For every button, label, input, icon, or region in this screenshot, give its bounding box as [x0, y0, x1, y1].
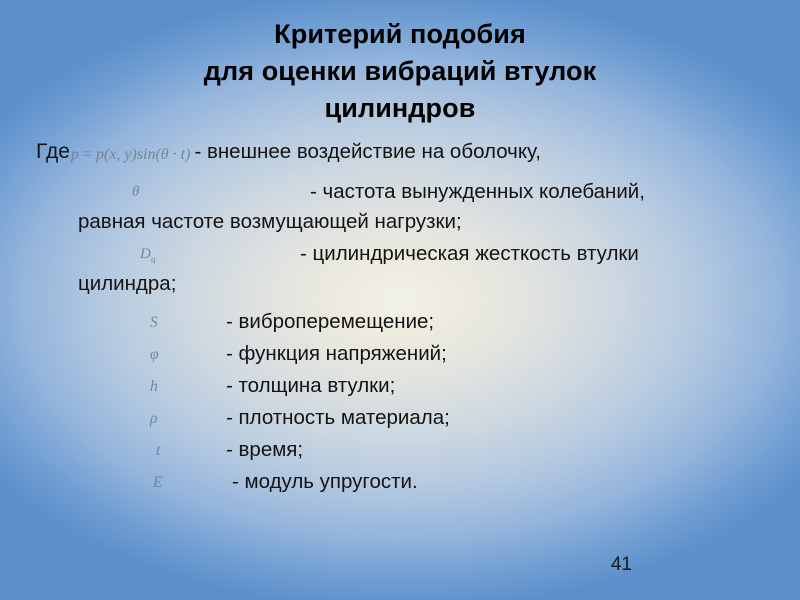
slide-title: Критерий подобия для оценки вибраций вту… — [50, 16, 750, 127]
symbol-S: S — [150, 314, 190, 332]
symbol-phi: φ — [150, 346, 190, 364]
symbol-E-description: - модуль упругости. — [232, 470, 418, 494]
symbol-phi-description: - функция напряжений; — [226, 342, 447, 366]
stiffness-continuation: цилиндра; — [78, 272, 176, 296]
where-line: Где p = p(x, y)sin(θ · t) - внешнее возд… — [36, 140, 776, 164]
stiffness-symbol: Dц — [140, 246, 156, 265]
title-line-3: цилиндров — [50, 90, 750, 127]
formula-equals: = — [79, 146, 96, 163]
frequency-continuation: равная частоте возмущающей нагрузки; — [78, 210, 462, 234]
symbol-definition-list: S - виброперемещение; φ - функция напряж… — [0, 310, 800, 502]
formula-lhs: p — [71, 146, 79, 163]
list-item: h - толщина втулки; — [0, 374, 800, 406]
list-item: φ - функция напряжений; — [0, 342, 800, 374]
formula-external-load: p = p(x, y)sin(θ · t) — [71, 146, 191, 164]
title-line-1: Критерий подобия — [50, 16, 750, 53]
symbol-rho: ρ — [150, 410, 190, 428]
stiffness-symbol-base: D — [140, 246, 151, 262]
stiffness-symbol-subscript: ц — [151, 255, 156, 265]
frequency-description: - частота вынужденных колебаний, — [310, 180, 645, 204]
list-item: t - время; — [0, 438, 800, 470]
symbol-S-description: - виброперемещение; — [226, 310, 434, 334]
title-line-2: для оценки вибраций втулок — [50, 53, 750, 90]
list-item: ρ - плотность материала; — [0, 406, 800, 438]
symbol-t: t — [156, 442, 196, 460]
page-number: 41 — [611, 554, 632, 576]
frequency-symbol: θ — [132, 184, 139, 201]
symbol-t-description: - время; — [226, 438, 303, 462]
formula-rhs: p(x, y)sin(θ · t) — [96, 146, 191, 163]
symbol-rho-description: - плотность материала; — [226, 406, 450, 430]
symbol-E: E — [153, 474, 193, 492]
symbol-h-description: - толщина втулки; — [226, 374, 395, 398]
where-description: - внешнее воздействие на оболочку, — [194, 140, 541, 164]
presentation-slide: Критерий подобия для оценки вибраций вту… — [0, 0, 800, 600]
where-label: Где — [36, 140, 70, 164]
stiffness-description: - цилиндрическая жесткость втулки — [300, 242, 639, 266]
list-item: E - модуль упругости. — [0, 470, 800, 502]
symbol-h: h — [150, 378, 190, 396]
list-item: S - виброперемещение; — [0, 310, 800, 342]
